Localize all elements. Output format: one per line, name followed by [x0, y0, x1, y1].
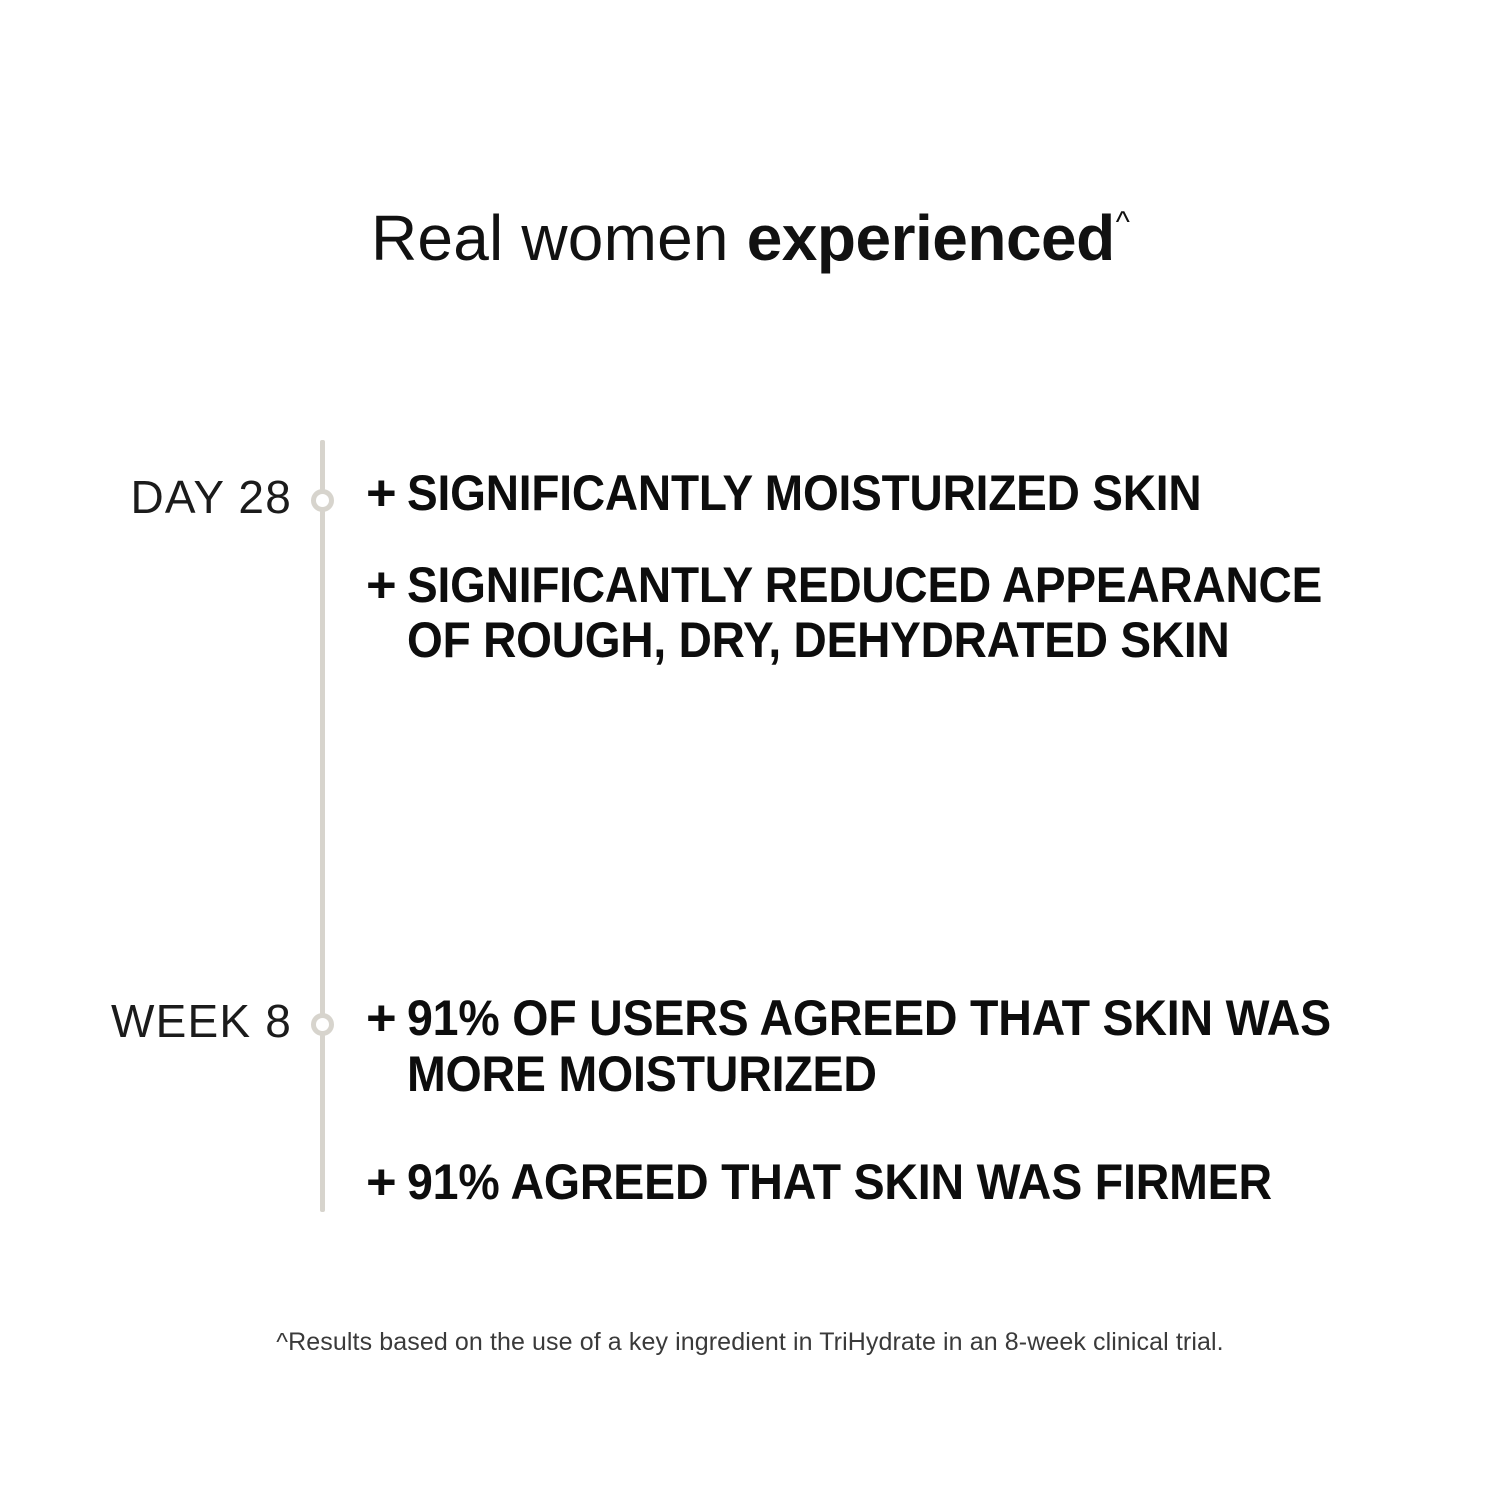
page-title: Real women experienced^ — [0, 205, 1500, 272]
timeline-rail — [320, 440, 325, 1212]
bullet-item: + 91% OF USERS AGREED THAT SKIN WAS MORE… — [366, 990, 1426, 1102]
bullet-item: + 91% AGREED THAT SKIN WAS FIRMER — [366, 1154, 1426, 1210]
footnote-marker: ^ — [1116, 206, 1130, 239]
bullet-plus-icon: + — [366, 466, 396, 522]
bullet-text: 91% AGREED THAT SKIN WAS FIRMER — [407, 1154, 1355, 1210]
timeline-label-week-8: WEEK 8 — [0, 998, 292, 1044]
page-title-bold: experienced — [747, 202, 1115, 274]
bullet-text: SIGNIFICANTLY REDUCED APPEARANCE OF ROUG… — [407, 558, 1344, 669]
bullet-text: SIGNIFICANTLY MOISTURIZED SKIN — [407, 466, 1344, 522]
bullet-group-week-8: + 91% OF USERS AGREED THAT SKIN WAS MORE… — [366, 990, 1426, 1210]
bullet-group-day-28: + SIGNIFICANTLY MOISTURIZED SKIN + SIGNI… — [366, 466, 1426, 669]
bullet-text: 91% OF USERS AGREED THAT SKIN WAS MORE M… — [407, 990, 1355, 1102]
timeline-ring-marker-day-28 — [311, 489, 334, 512]
footnote-text: ^Results based on the use of a key ingre… — [0, 1328, 1500, 1357]
infographic-canvas: Real women experienced^ DAY 28 + SIGNIFI… — [0, 0, 1500, 1500]
bullet-plus-icon: + — [366, 990, 396, 1046]
bullet-plus-icon: + — [366, 1154, 396, 1210]
page-title-light: Real women — [371, 202, 747, 274]
timeline-label-day-28: DAY 28 — [0, 474, 292, 520]
bullet-plus-icon: + — [366, 558, 396, 614]
timeline-ring-marker-week-8 — [311, 1013, 334, 1036]
bullet-item: + SIGNIFICANTLY MOISTURIZED SKIN — [366, 466, 1426, 522]
bullet-item: + SIGNIFICANTLY REDUCED APPEARANCE OF RO… — [366, 558, 1426, 669]
